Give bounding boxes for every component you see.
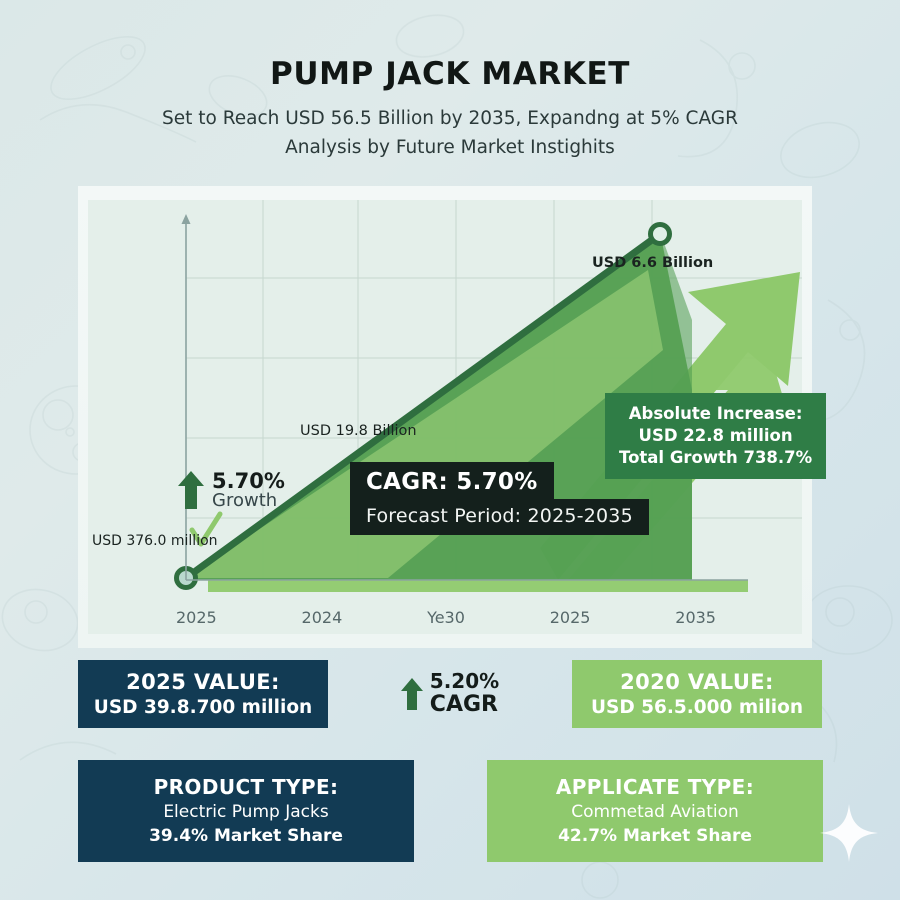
- x-tick-2: Ye30: [427, 608, 465, 627]
- stat-card-2020-value: 2020 VALUE: USD 56.5.000 milion: [572, 660, 822, 728]
- stat-card-2020-label: 2020 VALUE:: [620, 669, 774, 695]
- sparkle-icon: [820, 804, 878, 862]
- x-tick-1: 2024: [302, 608, 343, 627]
- stat-cagr-middle: 5.20% CAGR: [328, 660, 572, 728]
- product-type-name: Electric Pump Jacks: [163, 801, 328, 824]
- stat-card-2025-value: 2025 VALUE: USD 39.8.700 million: [78, 660, 328, 728]
- infographic-canvas: PUMP JACK MARKET Set to Reach USD 56.5 B…: [0, 0, 900, 900]
- absolute-increase-value: USD 22.8 million: [619, 425, 812, 447]
- total-growth-value: Total Growth 738.7%: [619, 447, 812, 469]
- growth-percentage: 5.70%: [212, 470, 285, 492]
- absolute-increase-label: Absolute Increase:: [619, 403, 812, 425]
- subtitle-line-1: Set to Reach USD 56.5 Billion by 2035, E…: [0, 108, 900, 129]
- application-type-share: 42.7% Market Share: [558, 825, 752, 848]
- chart-label-end-value: USD 6.6 Billion: [592, 255, 713, 271]
- stat-card-2025-amount: USD 39.8.700 million: [94, 696, 312, 719]
- product-type-label: PRODUCT TYPE:: [154, 774, 339, 802]
- stat-card-application-type: APPLICATE TYPE: Commetad Aviation 42.7% …: [487, 760, 823, 862]
- up-arrow-icon: [178, 471, 204, 509]
- up-arrow-icon: [401, 678, 423, 710]
- application-type-name: Commetad Aviation: [571, 801, 739, 824]
- forecast-period-label: Forecast Period: 2025-2035: [350, 499, 649, 535]
- chart-label-start-value: USD 376.0 million: [92, 533, 218, 549]
- x-tick-0: 2025: [176, 608, 217, 627]
- header-block: PUMP JACK MARKET Set to Reach USD 56.5 B…: [0, 0, 900, 158]
- stat-cagr-label: CAGR: [430, 693, 499, 717]
- stat-card-2025-label: 2025 VALUE:: [126, 669, 280, 695]
- subtitle-line-2: Analysis by Future Market Instighits: [0, 137, 900, 158]
- x-tick-4: 2035: [675, 608, 716, 627]
- stat-cagr-percentage: 5.20%: [430, 671, 499, 693]
- product-type-share: 39.4% Market Share: [149, 825, 343, 848]
- x-axis-tick-labels: 2025 2024 Ye30 2025 2035: [176, 608, 776, 627]
- page-title: PUMP JACK MARKET: [0, 56, 900, 92]
- stat-card-2020-amount: USD 56.5.000 milion: [591, 696, 803, 719]
- stats-row-1: 2025 VALUE: USD 39.8.700 million 5.20% C…: [78, 660, 822, 728]
- chart-label-middle-value: USD 19.8 Billion: [300, 423, 417, 439]
- absolute-increase-callout: Absolute Increase: USD 22.8 million Tota…: [605, 393, 826, 479]
- growth-label: Growth: [212, 492, 285, 511]
- cagr-headline: CAGR: 5.70%: [350, 462, 554, 501]
- x-tick-3: 2025: [550, 608, 591, 627]
- y-axis-arrowhead-icon: [182, 214, 191, 224]
- chart-point-marker-end[interactable]: [651, 225, 670, 244]
- stat-card-product-type: PRODUCT TYPE: Electric Pump Jacks 39.4% …: [78, 760, 414, 862]
- application-type-label: APPLICATE TYPE:: [556, 774, 754, 802]
- growth-badge: 5.70% Growth: [178, 470, 285, 511]
